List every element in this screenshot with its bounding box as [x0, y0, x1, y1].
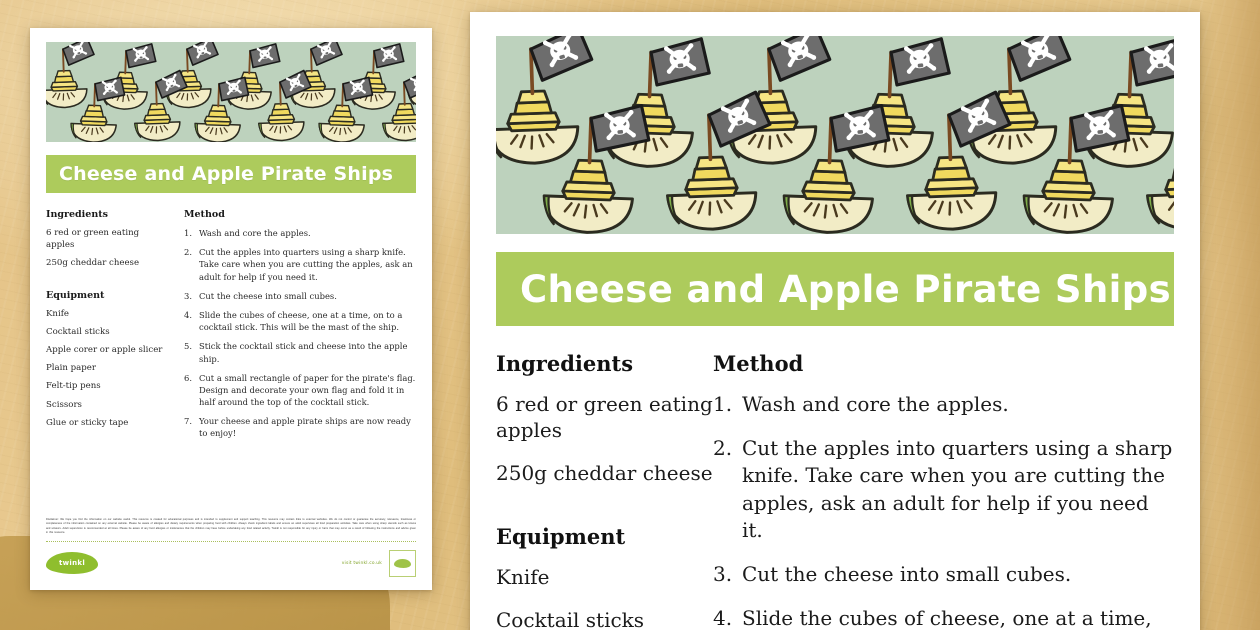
step-number: 2.	[184, 246, 199, 283]
step-text: Cut the apples into quarters using a sha…	[742, 435, 1174, 545]
thumbnail-page-title: Cheese and Apple Pirate Ships	[59, 163, 393, 185]
twinkl-leaf-badge-icon	[389, 550, 416, 577]
step-text: Stick the cocktail stick and cheese into…	[199, 340, 416, 364]
thumbnail-method-step: 4. Slide the cubes of cheese, one at a t…	[184, 309, 416, 333]
thumbnail-equipment-item: Felt-tip pens	[46, 380, 166, 392]
pirate-ship-illustration	[46, 42, 416, 142]
method-step: 2. Cut the apples into quarters using a …	[713, 435, 1174, 545]
equipment-item: Knife	[496, 564, 713, 590]
step-number: 3.	[713, 561, 742, 589]
footer-disclaimer-text: Disclaimer: We hope you find the informa…	[46, 518, 416, 536]
step-text: Wash and core the apples.	[199, 227, 416, 239]
thumbnail-method-step: 1. Wash and core the apples.	[184, 227, 416, 239]
method-step: 1. Wash and core the apples.	[713, 391, 1174, 419]
step-number: 6.	[184, 372, 199, 409]
page-background: Cheese and Apple Pirate Ships Ingredient…	[0, 0, 1260, 630]
thumbnail-method-step: 7. Your cheese and apple pirate ships ar…	[184, 415, 416, 439]
step-number: 7.	[184, 415, 199, 439]
step-text: Slide the cubes of cheese, one at a time…	[742, 605, 1174, 630]
step-text: Wash and core the apples.	[742, 391, 1174, 419]
thumbnail-ingredients-heading: Ingredients	[46, 209, 166, 220]
preview-title-bar: Cheese and Apple Pirate Ships	[496, 252, 1174, 326]
step-text: Cut the cheese into small cubes.	[199, 290, 416, 302]
thumbnail-footer: Disclaimer: We hope you find the informa…	[46, 518, 416, 578]
preview-ingredients-column: Ingredients 6 red or green eating apples…	[496, 351, 713, 630]
preview-method-column: Method 1. Wash and core the apples. 2. C…	[713, 351, 1174, 630]
ingredient-item: 250g cheddar cheese	[496, 460, 713, 486]
step-number: 5.	[184, 340, 199, 364]
equipment-item: Cocktail sticks	[496, 607, 713, 630]
step-number: 1.	[713, 391, 742, 419]
method-heading: Method	[713, 351, 1174, 376]
thumbnail-method-step: 6. Cut a small rectangle of paper for th…	[184, 372, 416, 409]
method-step: 3. Cut the cheese into small cubes.	[713, 561, 1174, 589]
ingredients-heading: Ingredients	[496, 351, 713, 376]
method-step: 4. Slide the cubes of cheese, one at a t…	[713, 605, 1174, 630]
thumbnail-method-heading: Method	[184, 209, 416, 220]
thumbnail-ingredient-item: 250g cheddar cheese	[46, 257, 166, 269]
footer-right-group: visit twinkl.co.uk	[342, 550, 416, 577]
step-text: Your cheese and apple pirate ships are n…	[199, 415, 416, 439]
thumbnail-method-step: 3. Cut the cheese into small cubes.	[184, 290, 416, 302]
thumbnail-equipment-item: Scissors	[46, 399, 166, 411]
footer-branding-row: twinkl visit twinkl.co.uk	[46, 548, 416, 578]
thumbnail-equipment-item: Glue or sticky tape	[46, 417, 166, 429]
method-list: 1. Wash and core the apples. 2. Cut the …	[713, 391, 1174, 630]
step-text: Slide the cubes of cheese, one at a time…	[199, 309, 416, 333]
ingredient-item: 6 red or green eating apples	[496, 391, 713, 444]
thumbnail-banner-illustration	[46, 42, 416, 142]
page-title: Cheese and Apple Pirate Ships	[520, 268, 1171, 311]
step-number: 4.	[713, 605, 742, 630]
thumbnail-equipment-heading: Equipment	[46, 290, 166, 301]
step-number: 4.	[184, 309, 199, 333]
thumbnail-equipment-item: Apple corer or apple slicer	[46, 344, 166, 356]
thumbnail-title-bar: Cheese and Apple Pirate Ships	[46, 155, 416, 193]
footer-url-text[interactable]: visit twinkl.co.uk	[342, 561, 382, 566]
step-number: 1.	[184, 227, 199, 239]
preview-content-columns: Ingredients 6 red or green eating apples…	[496, 351, 1174, 630]
step-text: Cut the apples into quarters using a sha…	[199, 246, 416, 283]
thumbnail-method-column: Method 1. Wash and core the apples. 2. C…	[184, 209, 416, 447]
thumbnail-method-step: 5. Stick the cocktail stick and cheese i…	[184, 340, 416, 364]
background-decor-shade-right	[1200, 0, 1260, 630]
thumbnail-equipment-item: Plain paper	[46, 362, 166, 374]
step-text: Cut a small rectangle of paper for the p…	[199, 372, 416, 409]
pirate-ship-illustration	[496, 36, 1174, 234]
twinkl-logo-icon[interactable]: twinkl	[46, 552, 98, 574]
thumbnail-ingredient-item: 6 red or green eating apples	[46, 227, 166, 251]
thumbnail-method-list: 1. Wash and core the apples. 2. Cut the …	[184, 227, 416, 440]
preview-banner-illustration	[496, 36, 1174, 234]
recipe-thumbnail-page[interactable]: Cheese and Apple Pirate Ships Ingredient…	[30, 28, 432, 590]
step-text: Cut the cheese into small cubes.	[742, 561, 1174, 589]
thumbnail-ingredients-column: Ingredients 6 red or green eating apples…	[46, 209, 166, 447]
footer-divider	[46, 541, 416, 542]
twinkl-logo-text: twinkl	[59, 559, 85, 567]
thumbnail-equipment-item: Knife	[46, 308, 166, 320]
step-number: 3.	[184, 290, 199, 302]
recipe-preview-page[interactable]: Cheese and Apple Pirate Ships Ingredient…	[470, 12, 1200, 630]
thumbnail-content-columns: Ingredients 6 red or green eating apples…	[46, 209, 416, 447]
step-number: 2.	[713, 435, 742, 545]
equipment-heading: Equipment	[496, 524, 713, 549]
thumbnail-equipment-item: Cocktail sticks	[46, 326, 166, 338]
thumbnail-method-step: 2. Cut the apples into quarters using a …	[184, 246, 416, 283]
